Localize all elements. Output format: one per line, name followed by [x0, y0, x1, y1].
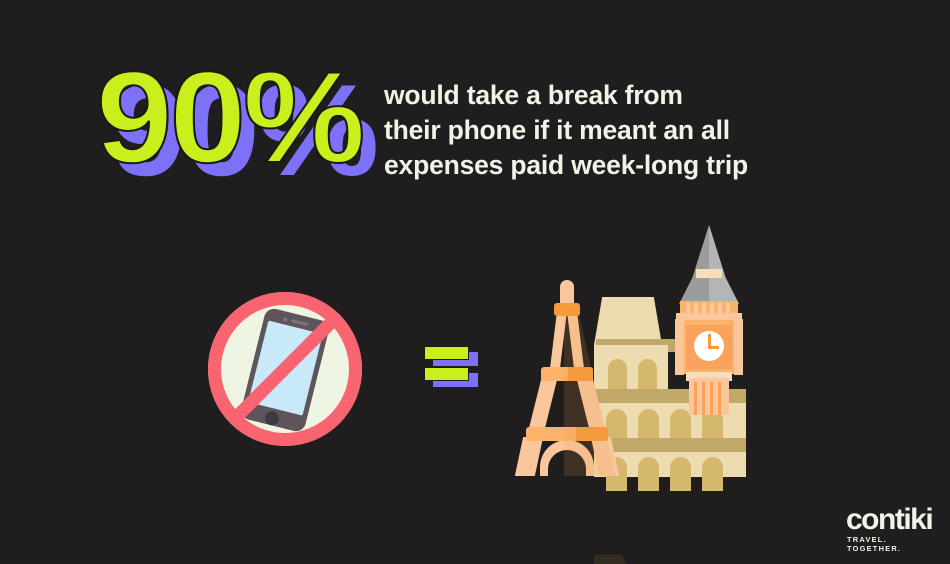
headline-line-1: would take a break from	[384, 78, 854, 113]
stat-percentage: 90%	[96, 52, 362, 182]
no-phone-icon	[208, 292, 362, 446]
eiffel-base-leg-left	[515, 437, 543, 476]
big-ben-corner-pillar	[734, 319, 743, 375]
colosseum-arch	[670, 457, 691, 491]
logo-tagline: TRAVEL. TOGETHER.	[847, 535, 938, 553]
big-ben-shaft-flute	[718, 382, 721, 415]
eiffel-tower-icon	[518, 280, 616, 476]
colosseum-arch	[702, 457, 723, 491]
infographic-poster: 90% would take a break from their phone …	[0, 0, 950, 564]
big-ben-shaft-flute	[702, 382, 705, 415]
big-ben-clock-minute-hand	[708, 334, 711, 347]
equals-bar-top	[424, 346, 469, 360]
logo-wordmark: contiki	[846, 505, 932, 535]
equals-sign-icon	[424, 343, 486, 393]
headline-text: would take a break from their phone if i…	[384, 78, 854, 183]
big-ben-icon	[666, 225, 752, 415]
colosseum-arch	[638, 457, 659, 491]
headline-line-3: expenses paid week-long trip	[384, 148, 854, 183]
equals-bar-bottom	[424, 367, 469, 381]
headline-line-2: their phone if it meant an all	[384, 113, 854, 148]
big-ben-corner-pillar	[675, 319, 684, 375]
travel-landmarks-icon	[510, 225, 760, 477]
headline-row: 90% would take a break from their phone …	[0, 0, 950, 210]
big-ben-shaft-flute	[694, 382, 697, 415]
big-ben-shaft-flute	[710, 382, 713, 415]
contiki-logo: contiki TRAVEL. TOGETHER.	[846, 505, 938, 545]
equation-row	[0, 215, 950, 480]
eiffel-shading	[564, 280, 616, 476]
colosseum-base-rim	[594, 438, 746, 452]
